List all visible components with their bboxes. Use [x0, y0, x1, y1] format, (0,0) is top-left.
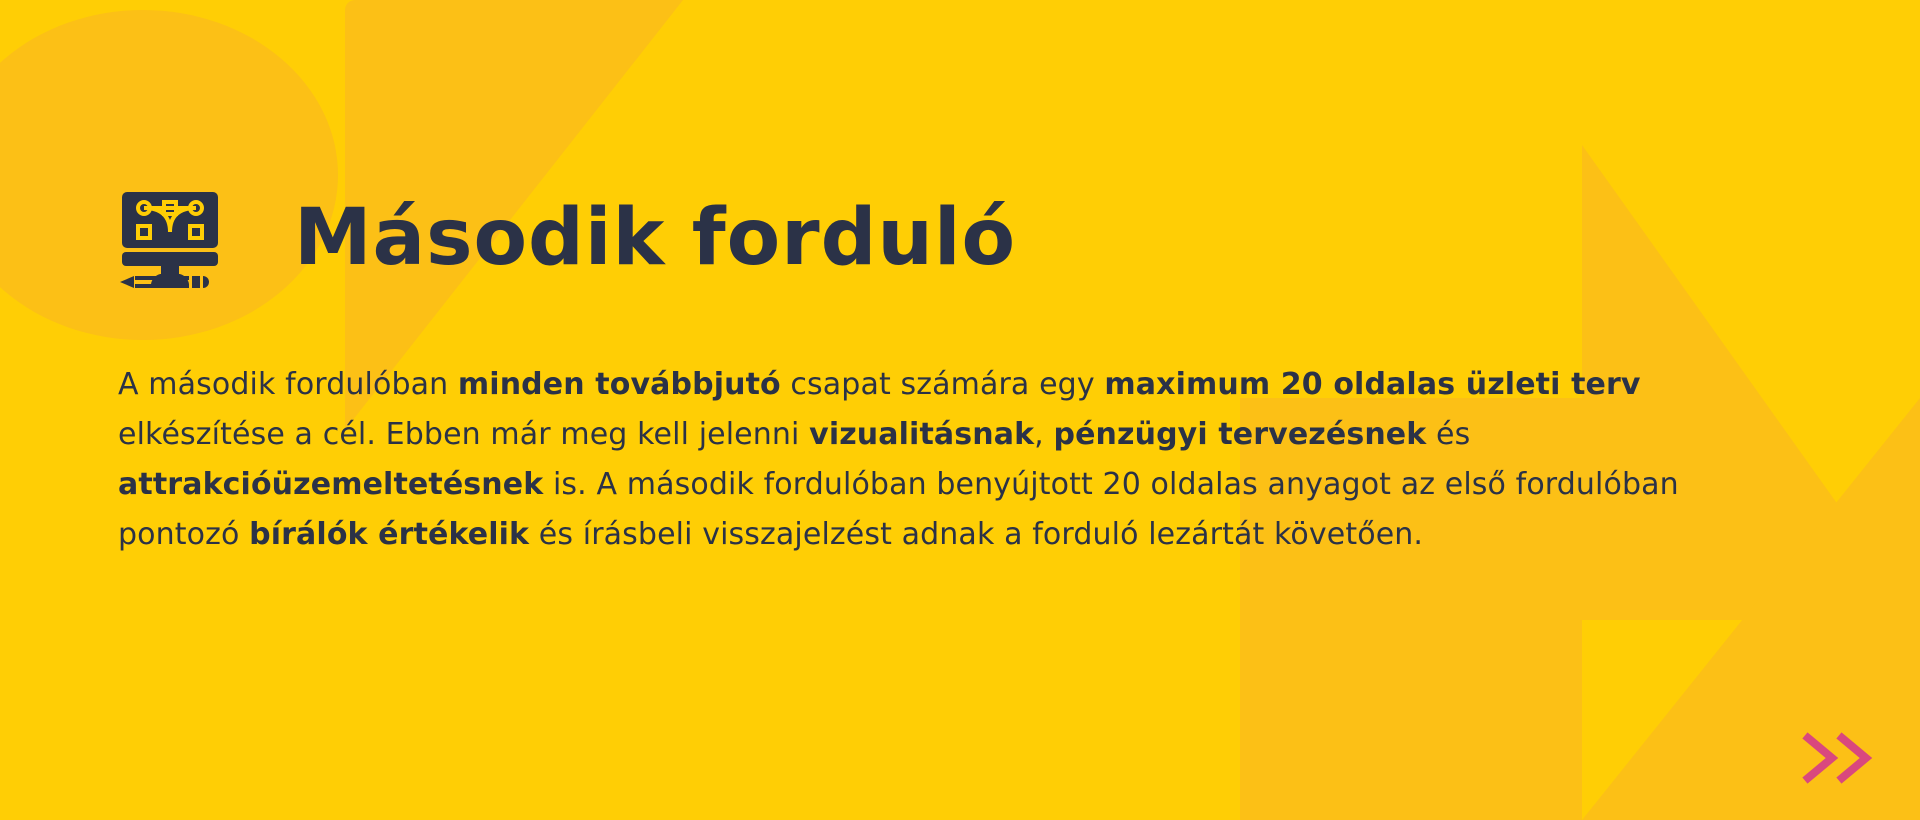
- body-text-run: elkészítése a cél. Ebben már meg kell je…: [118, 417, 809, 452]
- body-text-run: A második fordulóban: [118, 367, 458, 402]
- body-text-emphasis: vizualitásnak: [809, 417, 1034, 452]
- body-paragraph: A második fordulóban minden továbbjutó c…: [118, 360, 1798, 560]
- body-text-run: csapat számára egy: [781, 367, 1105, 402]
- slide-header: Másodikforduló: [118, 186, 1016, 290]
- background-circle-shape: [0, 10, 338, 340]
- body-text-emphasis: bírálók értékelik: [249, 517, 529, 552]
- monitor-design-pen-tool-icon: [118, 186, 222, 290]
- body-text-emphasis: attrakcióüzemeltetésnek: [118, 467, 543, 502]
- body-text-run: és: [1426, 417, 1470, 452]
- body-text-run: és írásbeli visszajelzést adnak a fordul…: [529, 517, 1423, 552]
- body-text-run: ,: [1034, 417, 1053, 452]
- slide-canvas: Másodikforduló A második fordulóban mind…: [0, 0, 1920, 820]
- body-text-emphasis: minden továbbjutó: [458, 367, 781, 402]
- body-text-emphasis: maximum 20 oldalas üzleti terv: [1104, 367, 1640, 402]
- page-title: Másodikforduló: [294, 199, 1016, 277]
- page-title-word-1: Második: [294, 193, 665, 283]
- double-chevron-right-icon[interactable]: [1802, 732, 1878, 784]
- page-title-word-2: forduló: [692, 193, 1016, 283]
- body-text-emphasis: pénzügyi tervezésnek: [1053, 417, 1426, 452]
